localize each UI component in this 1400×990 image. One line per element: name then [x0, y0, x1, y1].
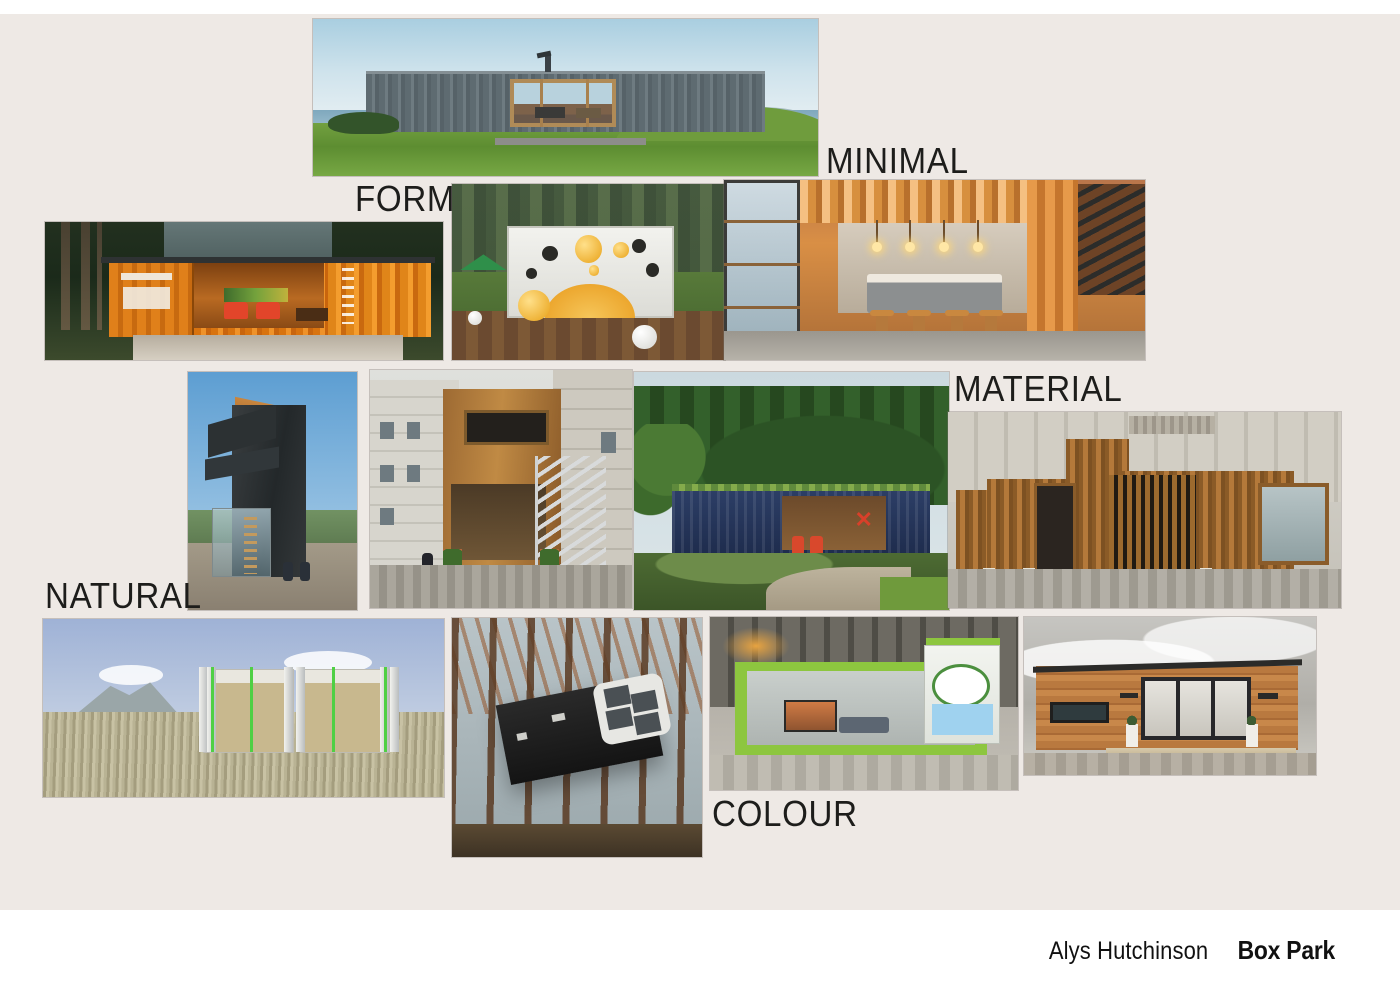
- figure: [300, 562, 310, 581]
- light-sphere: [632, 325, 657, 350]
- scene-white-container: [452, 184, 725, 360]
- folding-louvre: [284, 667, 293, 752]
- door-mullion: [1176, 677, 1180, 740]
- pendant-light: [977, 220, 979, 245]
- timber-post: [586, 79, 589, 128]
- open-living-bay: [510, 79, 616, 128]
- container-column: [1027, 180, 1078, 346]
- photo-dark-steel-observation-tower[interactable]: [188, 372, 357, 610]
- scene-cedar-house: [1024, 617, 1316, 775]
- modular-unit: [300, 669, 390, 753]
- pendant-light: [909, 220, 911, 245]
- scene-observation-tower: [188, 372, 357, 610]
- caption-form: FORM: [355, 178, 455, 220]
- scene-orange-container: [45, 222, 443, 360]
- author-name: Alys Hutchinson: [1049, 937, 1208, 966]
- green-post: [250, 667, 253, 752]
- scene-desert-prefab: [43, 619, 444, 797]
- door-mullion: [724, 306, 800, 309]
- photo-green-glass-container[interactable]: [710, 617, 1018, 790]
- timber-post: [540, 79, 543, 128]
- door-placard: [123, 287, 171, 309]
- caption-natural: NATURAL: [45, 575, 202, 617]
- window: [407, 465, 420, 482]
- paving: [710, 755, 1018, 790]
- red-chair: [224, 302, 248, 319]
- porthole: [526, 268, 537, 279]
- green-post: [211, 667, 214, 752]
- figure: [283, 562, 293, 581]
- red-x-artwork: ✕: [855, 510, 875, 530]
- modular-unit: [203, 669, 293, 753]
- photo-desert-prefab-render[interactable]: [43, 619, 444, 797]
- window: [407, 422, 420, 439]
- window-pane: [633, 711, 661, 735]
- window: [601, 432, 617, 453]
- kitchen-island: [867, 274, 1002, 314]
- cargotecture-lettering: [342, 268, 354, 325]
- door-mullion: [724, 263, 800, 266]
- photo-orange-cargotecture-container[interactable]: [45, 222, 443, 360]
- container-number-plate: [121, 273, 173, 280]
- glazed-entry-door: [1034, 483, 1075, 575]
- red-chair: [256, 302, 280, 319]
- glazed-garage-door: [724, 180, 800, 335]
- tree-trunk: [81, 222, 90, 330]
- upper-window: [464, 410, 549, 445]
- warm-window-glow: [722, 627, 790, 665]
- shrub: [328, 112, 399, 134]
- glazed-base: [212, 508, 271, 577]
- glazed-end-window: [1258, 483, 1329, 565]
- caption-minimal: MINIMAL: [826, 140, 969, 182]
- television: [784, 700, 837, 732]
- outdoor-sofa: [535, 107, 565, 118]
- mood-board: ✕: [0, 0, 1400, 990]
- photo-cedar-modular-house[interactable]: [1024, 617, 1316, 775]
- slot-window: [516, 732, 527, 741]
- timber-ladder: [244, 517, 258, 574]
- scene-slat-pavilion: [948, 412, 1341, 608]
- scene-treehouse: [452, 618, 702, 857]
- ground-floor-bay: [451, 484, 545, 560]
- forest-floor: [452, 824, 702, 857]
- photo-white-perforated-container[interactable]: [452, 184, 725, 360]
- roof-edge: [101, 257, 435, 263]
- sign-dial-graphic: [932, 664, 990, 708]
- cobbled-courtyard: [370, 565, 632, 608]
- sky-gap: [164, 222, 331, 258]
- caption-colour: COLOUR: [712, 793, 858, 835]
- tree-trunk: [97, 222, 102, 330]
- window: [380, 508, 393, 525]
- paving: [1024, 753, 1316, 775]
- door-mullion: [1211, 677, 1215, 740]
- photo-blue-container-garden[interactable]: ✕: [634, 372, 949, 610]
- sign-blue-panel: [932, 704, 994, 735]
- scene-container-kitchen: [724, 180, 1145, 360]
- vertical-slat-screen: [1109, 475, 1195, 569]
- green-post: [332, 667, 335, 752]
- caption-material: MATERIAL: [954, 368, 1122, 410]
- scene-paris-microhouse: [370, 370, 632, 608]
- window: [380, 465, 393, 482]
- steel-stair: [1078, 184, 1145, 296]
- light-sphere: [468, 311, 482, 325]
- dining-table: [576, 108, 601, 117]
- dark-table: [296, 308, 332, 322]
- concrete-floor: [724, 331, 1145, 360]
- window: [380, 422, 393, 439]
- wall-light: [1258, 693, 1278, 699]
- porthole: [589, 265, 600, 276]
- facade-ornament: [1129, 416, 1215, 434]
- scene-blue-container: ✕: [634, 372, 949, 610]
- green-post: [384, 667, 387, 752]
- porthole: [632, 239, 646, 253]
- folding-louvre: [390, 667, 399, 752]
- folding-louvre: [296, 667, 305, 752]
- wall-light: [1120, 693, 1138, 698]
- sliding-glass-doors: [1141, 677, 1251, 740]
- sofa: [839, 717, 888, 733]
- door-mullion: [724, 220, 800, 223]
- pendant-light: [876, 220, 878, 245]
- project-name: Box Park: [1238, 935, 1335, 966]
- cobbled-paving: [948, 569, 1341, 608]
- pendant-light: [943, 220, 945, 245]
- cloud: [99, 665, 163, 685]
- wall-artwork: [224, 288, 288, 302]
- photo-minimal-headland-house[interactable]: [313, 19, 818, 176]
- photo-black-treehouse-cabin[interactable]: [452, 618, 702, 857]
- tree-trunk: [61, 222, 70, 330]
- photo-timber-slat-pavilion[interactable]: [948, 412, 1341, 608]
- footer: Alys Hutchinson Box Park: [1038, 935, 1342, 966]
- strip-window: [1050, 702, 1109, 722]
- entry-path: [133, 335, 404, 360]
- scene-headland: [313, 19, 818, 176]
- window-frame: [592, 672, 673, 746]
- scene-green-container: [710, 617, 1018, 790]
- deck: [495, 138, 647, 144]
- photo-paris-timber-microhouse[interactable]: [370, 370, 632, 608]
- lawn: [880, 577, 949, 610]
- photo-warm-container-kitchen[interactable]: [724, 180, 1145, 360]
- planter: [1126, 724, 1138, 746]
- planter: [1246, 724, 1258, 746]
